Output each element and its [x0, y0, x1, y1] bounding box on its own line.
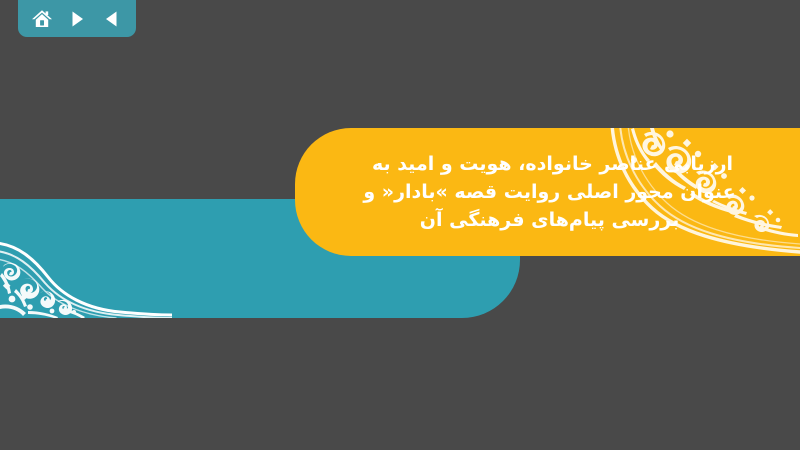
slide-viewer: ارزیابی عناصر خانواده، هویت و امید به عن…	[0, 0, 800, 450]
home-icon	[30, 7, 54, 31]
title-line-2: عنوان محور اصلی روایت قصه »بادار« و	[363, 178, 735, 206]
title-panel: ارزیابی عناصر خانواده، هویت و امید به عن…	[295, 128, 800, 256]
slide-title: ارزیابی عناصر خانواده، هویت و امید به عن…	[295, 128, 800, 256]
title-line-1: ارزیابی عناصر خانواده، هویت و امید به	[372, 150, 733, 178]
triangle-left-icon	[101, 8, 123, 30]
arabesque-corner-ornament	[0, 199, 172, 318]
triangle-right-icon	[66, 8, 88, 30]
forward-button[interactable]	[62, 4, 92, 34]
navigation-bar	[18, 0, 136, 37]
back-button[interactable]	[97, 4, 127, 34]
title-line-3: بررسی پیام‌های فرهنگی آن	[420, 206, 680, 234]
home-button[interactable]	[27, 4, 57, 34]
